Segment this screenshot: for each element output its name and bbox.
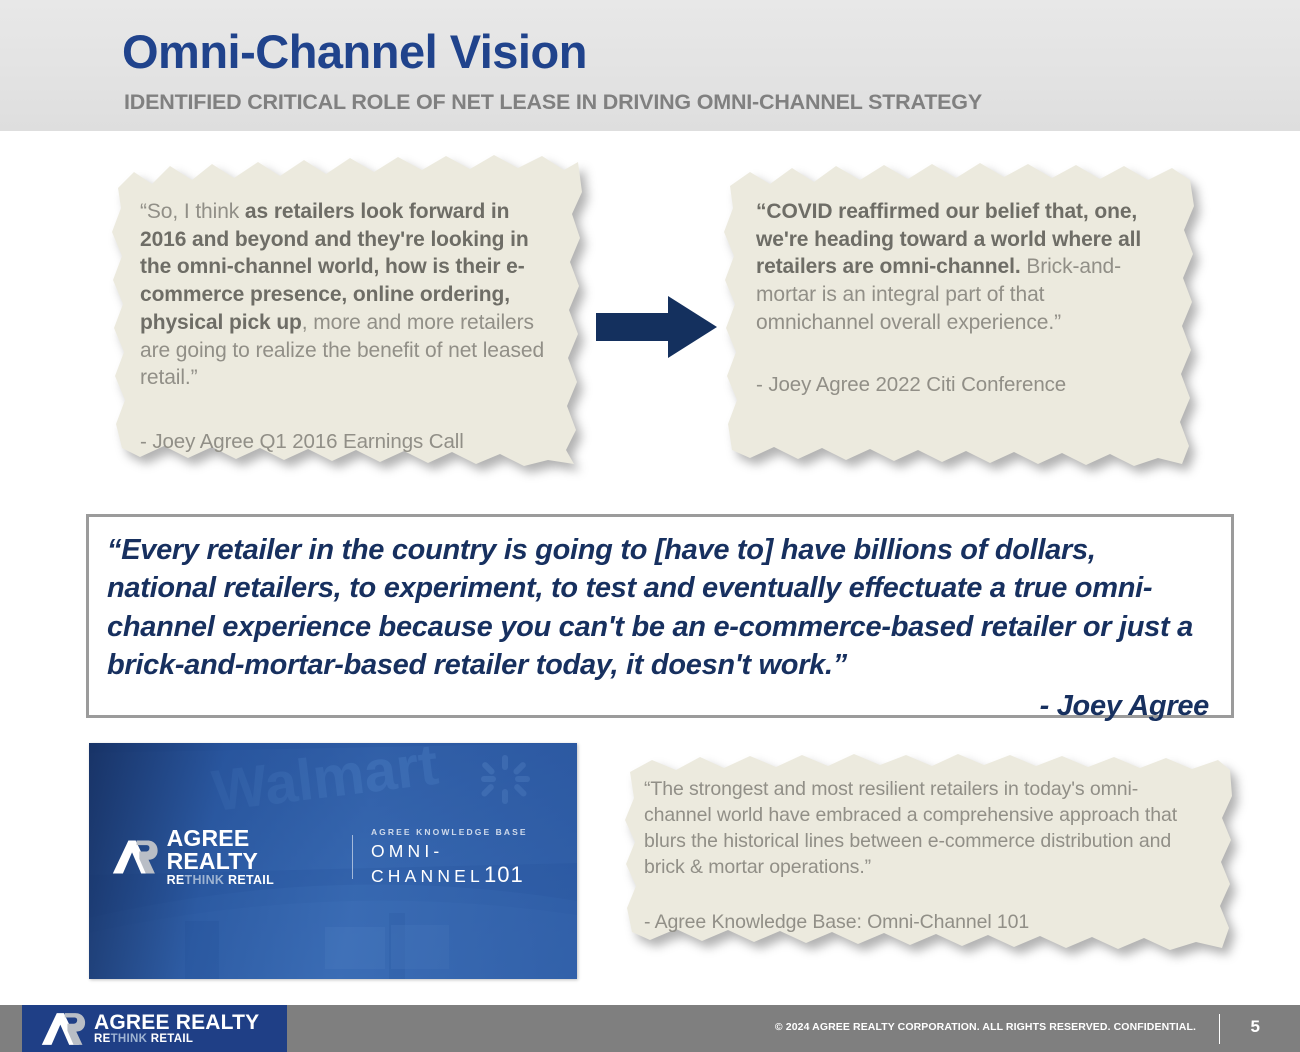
brand-retail: RETAIL [224,873,274,887]
image-card-brand-bar: AGREE REALTY RETHINK RETAIL AGREE KNOWLE… [89,831,577,883]
page-title: Omni-Channel Vision [122,28,587,75]
brand-think: THINK [185,873,225,887]
brand-re: RE [167,873,185,887]
footer-brand-think: THINK [111,1033,148,1045]
footer-copyright: © 2024 AGREE REALTY CORPORATION. ALL RIG… [775,1021,1196,1033]
center-quote-attribution: - Joey Agree [107,690,1209,723]
arrow-right-icon [596,296,718,358]
footer-divider [1219,1014,1220,1044]
page-number: 5 [1251,1017,1260,1037]
center-quote-text: “Every retailer in the country is going … [107,531,1209,684]
quote-left-attribution: - Joey Agree Q1 2016 Earnings Call [140,430,554,454]
arrow-right-glyph [596,296,718,358]
kb-eyebrow: AGREE KNOWLEDGE BASE [371,827,577,837]
page-subtitle: IDENTIFIED CRITICAL ROLE OF NET LEASE IN… [124,90,982,115]
agree-realty-logo-icon [111,837,159,877]
quote-card-right: “COVID reaffirmed our belief that, one, … [722,160,1198,472]
agree-realty-wordmark: AGREE REALTY RETHINK RETAIL [167,827,332,887]
slide-footer: AGREE REALTY RETHINK RETAIL © 2024 AGREE… [0,1005,1300,1052]
quote-card-left: “So, I think as retailers look forward i… [108,148,588,470]
quote-left-text: “So, I think as retailers look forward i… [140,198,554,392]
omni-channel-101-image-card[interactable]: Walmart AGREE REALTY RETHINK RETAIL AGRE… [89,743,577,979]
footer-brand-line-1: AGREE REALTY [94,1012,259,1033]
quote-left-lead: “So, I think [140,200,245,223]
agree-realty-logo-icon [40,1011,86,1047]
footer-logo-block: AGREE REALTY RETHINK RETAIL [22,1005,287,1052]
brand-line-1: AGREE REALTY [167,827,332,873]
kb-number: 101 [484,862,524,887]
kb-title-text: OMNI-CHANNEL [371,841,484,886]
center-highlight-quote: “Every retailer in the country is going … [86,514,1234,718]
quote-card-bottom-body: “The strongest and most resilient retail… [622,752,1236,934]
quote-right-text: “COVID reaffirmed our belief that, one, … [756,198,1164,337]
footer-brand-line-2: RETHINK RETAIL [94,1034,259,1046]
knowledge-base-label: AGREE KNOWLEDGE BASE OMNI-CHANNEL101 [371,827,577,888]
brand-line-2: RETHINK RETAIL [167,874,332,887]
kb-title: OMNI-CHANNEL101 [371,841,577,888]
quote-card-right-body: “COVID reaffirmed our belief that, one, … [722,160,1198,397]
footer-brand-retail: RETAIL [147,1033,193,1045]
footer-wordmark: AGREE REALTY RETHINK RETAIL [94,1012,259,1046]
quote-right-attribution: - Joey Agree 2022 Citi Conference [756,373,1164,397]
brand-divider [352,835,353,879]
quote-bottom-text: “The strongest and most resilient retail… [644,776,1192,881]
footer-brand-re: RE [94,1033,111,1045]
quote-card-left-body: “So, I think as retailers look forward i… [108,148,588,454]
quote-card-bottom: “The strongest and most resilient retail… [622,752,1236,958]
quote-bottom-attribution: - Agree Knowledge Base: Omni-Channel 101 [644,911,1192,934]
